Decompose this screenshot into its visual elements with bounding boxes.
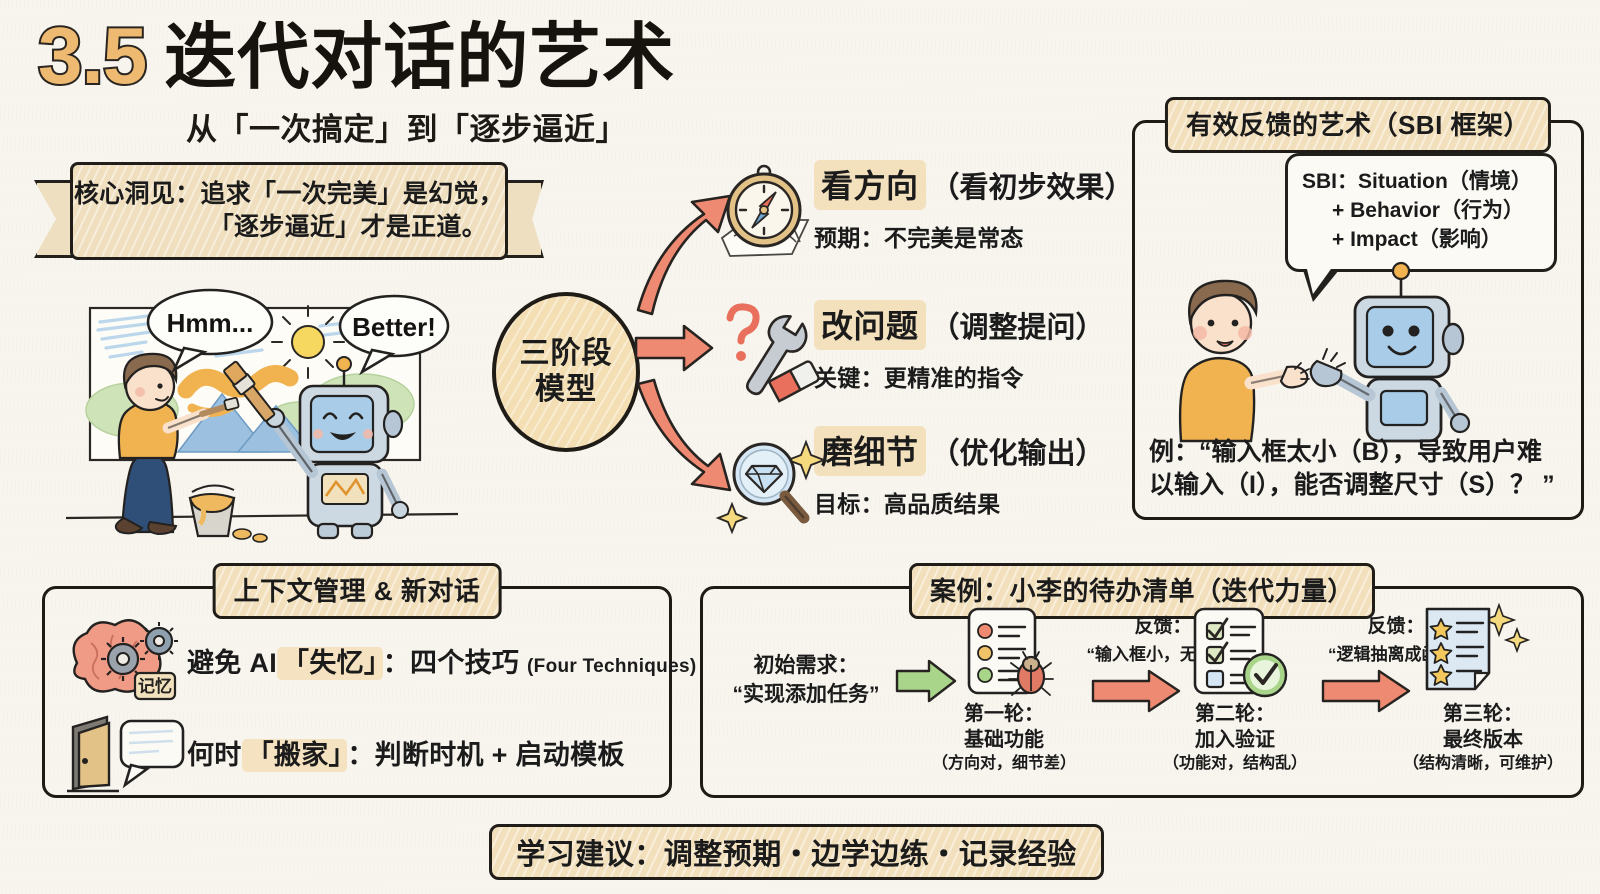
stage-2-title: 改问题: [814, 300, 926, 350]
case-step-2-round: 第二轮：: [1155, 701, 1315, 727]
sbi-speech-bubble: SBI：Situation（情境） + Behavior（行为） + Impac…: [1285, 153, 1557, 272]
case-initial-requirement: 初始需求： “实现添加任务”: [721, 651, 891, 710]
memory-label: 记忆: [138, 676, 172, 696]
ctx2-highlight: 「搬家」: [242, 739, 348, 772]
sbi-line-1: SBI：Situation（情境）: [1302, 168, 1540, 197]
painting-scene-illustration: Hmm... Better!: [62, 282, 482, 544]
magnifier-diamond-icon: [712, 424, 808, 520]
stage-1-paren: （看初步效果）: [931, 164, 1134, 206]
scene-bubble-left-text: Hmm...: [167, 308, 254, 338]
sbi-example-line-2: 以输入（I），能否调整尺寸（S）？ ”: [1149, 469, 1571, 503]
case-step-3-name: 最终版本: [1393, 727, 1573, 753]
stage-2-sub: 关键：更精准的指令: [814, 359, 1105, 393]
wrench-question-icon: [712, 298, 808, 394]
case-step-3: 第三轮： 最终版本 （结构清晰，可维护）: [1393, 601, 1573, 775]
section-number: 3.5: [38, 18, 146, 94]
case-step-1: 第一轮： 基础功能 （方向对，细节差）: [929, 605, 1079, 775]
context-row-1-text: 避免 AI「失忆」：四个技巧 (Four Techniques): [187, 641, 696, 680]
insight-line-1: 核心洞见：追求「一次完美」是幻觉，: [74, 178, 504, 211]
list-bug-icon: [929, 605, 1079, 701]
sbi-panel: 有效反馈的艺术（SBI 框架） SBI：Situation（情境） + Beha…: [1132, 120, 1584, 520]
stage-item-3: 磨细节 （优化输出） 目标：高品质结果: [712, 424, 1105, 520]
case-step-1-round: 第一轮：: [929, 701, 1079, 727]
infographic-canvas: 3.5 迭代对话的艺术 从「一次搞定」到「逐步逼近」 核心洞见：追求「一次完美」…: [0, 0, 1600, 894]
footer-text: 学习建议：调整预期・边学边练・记录经验: [516, 831, 1077, 873]
ctx2-suffix: ：判断时机 + 启动模板: [347, 740, 624, 770]
sbi-panel-tab: 有效反馈的艺术（SBI 框架）: [1165, 97, 1551, 153]
case-study-panel: 案例：小李的待办清单（迭代力量） 初始需求： “实现添加任务”: [700, 586, 1584, 798]
context-row-1: 记忆 避免 AI「失忆」：四个技巧 (Four Techniques): [63, 619, 696, 701]
insight-line-2: 「逐步逼近」才是正道。: [85, 211, 493, 244]
stage-3-paren: （优化输出）: [931, 430, 1105, 472]
case-step-1-note: （方向对，细节差）: [929, 754, 1079, 775]
page-title: 3.5 迭代对话的艺术: [38, 18, 675, 94]
case-step-2: 第二轮： 加入验证 （功能对，结构乱）: [1155, 605, 1315, 775]
door-speech-bubble-icon: [63, 711, 187, 793]
checklist-check-icon: [1155, 605, 1315, 701]
stage-3-sub: 目标：高品质结果: [814, 485, 1105, 519]
scene-bubble-right-text: Better!: [352, 312, 436, 342]
hub-line-1: 三阶段: [520, 336, 613, 372]
ctx1-prefix: 避免 AI: [187, 648, 277, 678]
stage-1-title: 看方向: [814, 160, 926, 210]
sbi-line-2: + Behavior（行为）: [1302, 197, 1540, 226]
title-text: 迭代对话的艺术: [164, 23, 675, 94]
ctx1-suffix: ：四个技巧: [383, 648, 520, 678]
context-panel-tab: 上下文管理 & 新对话: [213, 563, 502, 619]
ctx2-prefix: 何时: [187, 740, 242, 770]
case-step-3-note: （结构清晰，可维护）: [1393, 754, 1573, 775]
ribbon-body: 核心洞见：追求「一次完美」是幻觉， 「逐步逼近」才是正道。: [70, 162, 508, 260]
starred-doc-icon: [1393, 601, 1573, 701]
stage-item-2: 改问题 （调整提问） 关键：更精准的指令: [712, 298, 1105, 394]
ctx1-english: (Four Techniques): [527, 656, 696, 677]
hub-line-2: 模型: [535, 372, 597, 408]
brain-gear-memory-icon: 记忆: [63, 619, 187, 701]
context-row-2-text: 何时「搬家」：判断时机 + 启动模板: [187, 733, 625, 772]
sbi-example-line-1: 例：“输入框太小（B），导致用户难: [1149, 436, 1571, 470]
initial-line-2: “实现添加任务”: [721, 680, 891, 709]
stage-item-1: 看方向 （看初步效果） 预期：不完美是常态: [712, 158, 1134, 254]
case-step-2-name: 加入验证: [1155, 727, 1315, 753]
case-step-1-name: 基础功能: [929, 727, 1079, 753]
sbi-example-text: 例：“输入框太小（B），导致用户难 以输入（I），能否调整尺寸（S）？ ”: [1149, 436, 1571, 504]
case-step-3-round: 第三轮：: [1393, 701, 1573, 727]
ctx1-highlight: 「失忆」: [277, 647, 383, 680]
context-management-panel: 上下文管理 & 新对话: [42, 586, 672, 798]
context-row-2: 何时「搬家」：判断时机 + 启动模板: [63, 711, 625, 793]
stage-2-paren: （调整提问）: [931, 304, 1105, 346]
stage-1-sub: 预期：不完美是常态: [814, 219, 1134, 253]
insight-ribbon: 核心洞见：追求「一次完美」是幻觉， 「逐步逼近」才是正道。: [34, 162, 544, 266]
compass-icon: [712, 158, 808, 254]
initial-line-1: 初始需求：: [721, 651, 891, 680]
subtitle: 从「一次搞定」到「逐步逼近」: [186, 104, 627, 149]
case-step-2-note: （功能对，结构乱）: [1155, 754, 1315, 775]
stage-3-title: 磨细节: [814, 426, 926, 476]
sbi-line-3: + Impact（影响）: [1302, 226, 1540, 255]
sbi-characters-illustration: [1163, 263, 1563, 443]
footer-banner: 学习建议：调整预期・边学边练・记录经验: [489, 824, 1104, 880]
